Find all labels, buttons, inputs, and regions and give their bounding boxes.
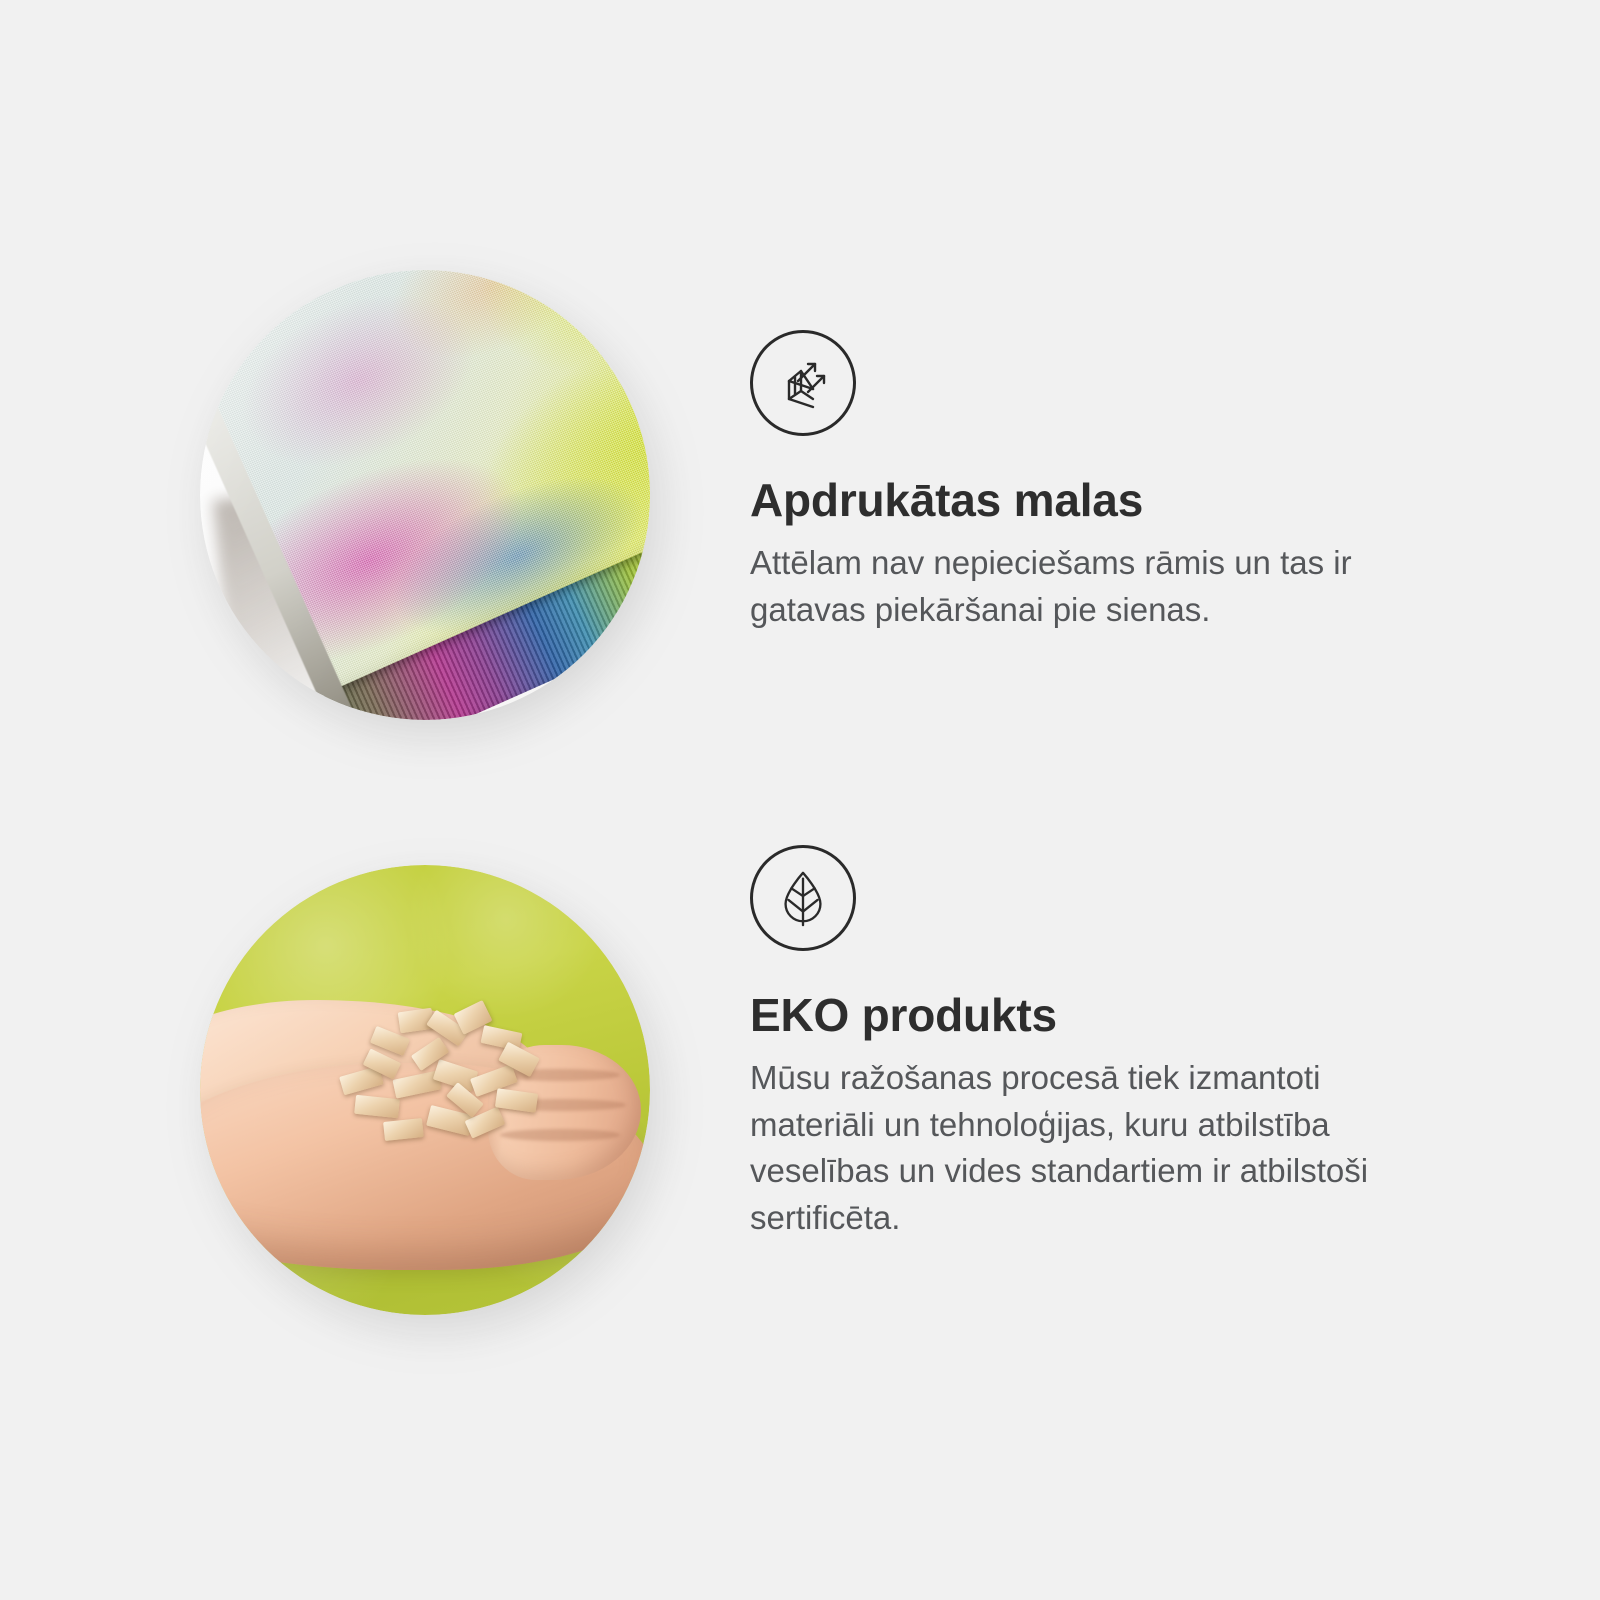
feature-title: EKO produkts <box>750 991 1470 1041</box>
feature-title: Apdrukātas malas <box>750 476 1470 526</box>
printed-edges-icon <box>750 330 856 436</box>
media-clip <box>200 865 650 1315</box>
feature-text-eko-product: EKO produkts Mūsu ražošanas procesā tiek… <box>750 845 1470 1242</box>
feature-text-printed-edges: Apdrukātas malas Attēlam nav nepieciešam… <box>750 330 1470 633</box>
canvas-print-corner-photo <box>200 270 650 720</box>
media-clip <box>200 270 650 720</box>
feature-description: Mūsu ražošanas procesā tiek izmantoti ma… <box>750 1055 1450 1242</box>
canvas-scene <box>200 270 650 720</box>
wood-chips <box>326 1000 569 1162</box>
leaf-icon <box>750 845 856 951</box>
eco-scene <box>200 865 650 1315</box>
feature-list-page: Apdrukātas malas Attēlam nav nepieciešam… <box>0 0 1600 1600</box>
wood-chips-in-hands-photo <box>200 865 650 1315</box>
feature-description: Attēlam nav nepieciešams rāmis un tas ir… <box>750 540 1450 634</box>
